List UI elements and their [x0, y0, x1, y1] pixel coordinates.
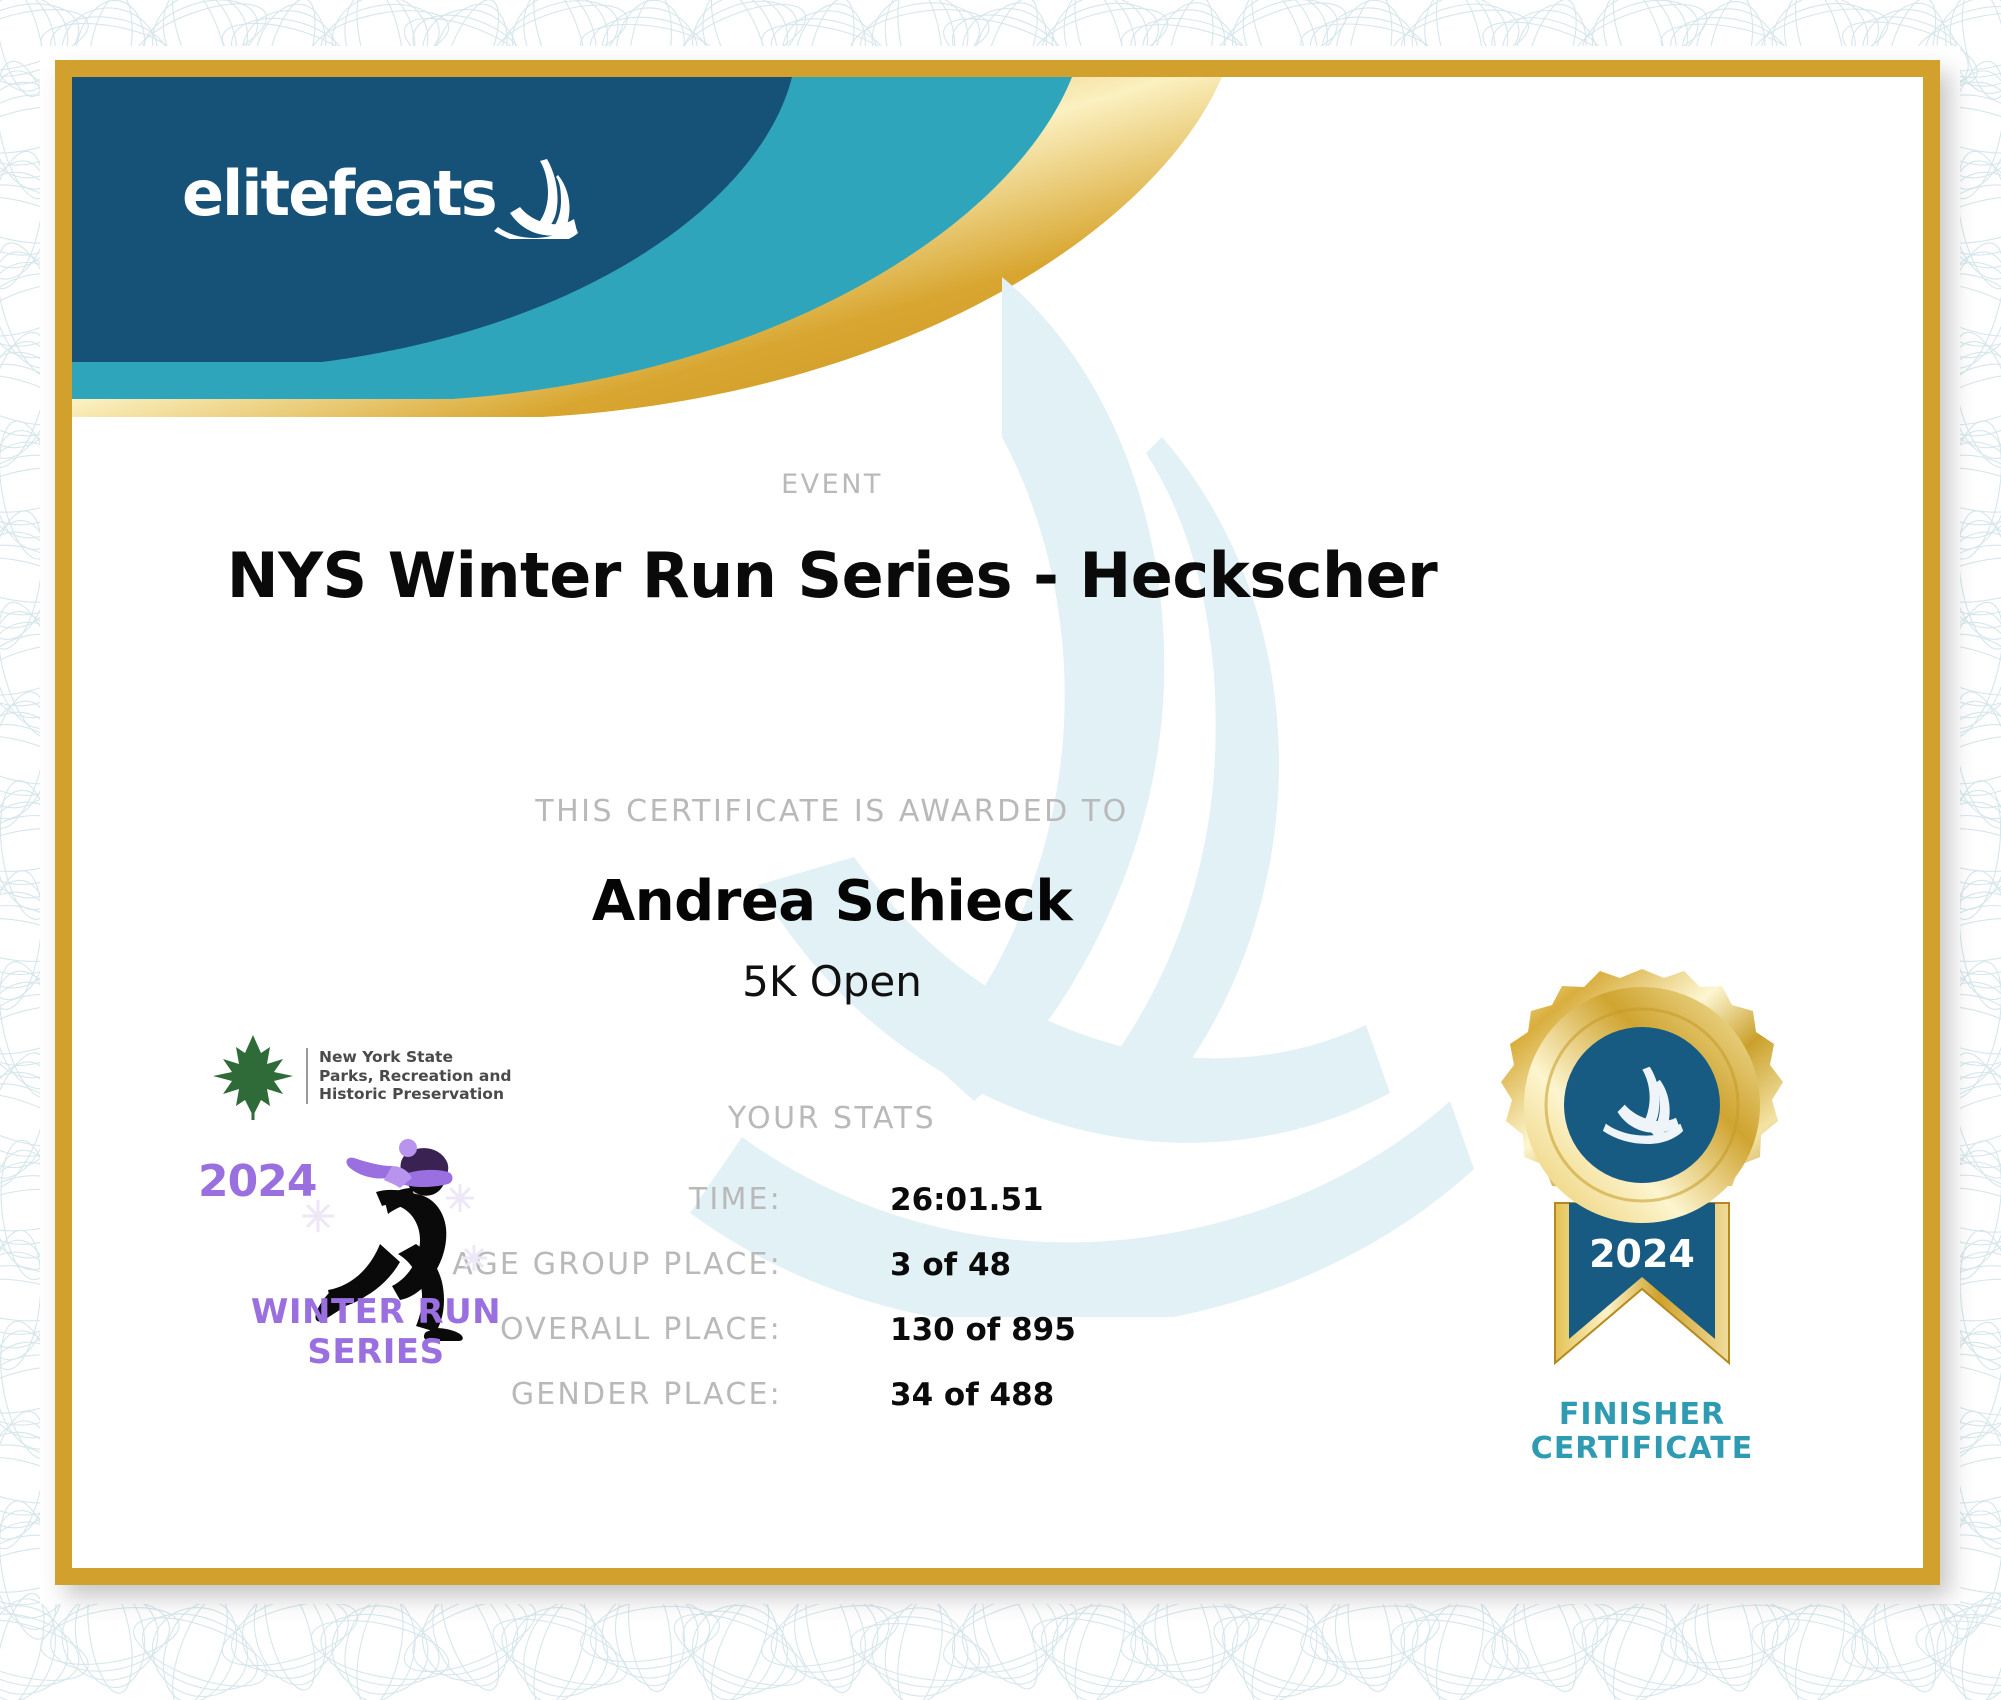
certificate-frame: elitefeats EVENT NYS Winter Run Series -… — [55, 60, 1940, 1585]
medal-caption-line-1: FINISHER — [1462, 1398, 1822, 1432]
stat-row-gender-place: GENDER PLACE: 34 of 488 — [72, 1377, 1592, 1442]
nys-parks-text: New York State Parks, Recreation and His… — [306, 1048, 512, 1105]
certificate-page: elitefeats EVENT NYS Winter Run Series -… — [0, 0, 2001, 1700]
winter-run-series-logo: 2024 — [192, 1134, 560, 1374]
nys-line-1: New York State — [319, 1048, 512, 1067]
medal-year: 2024 — [1589, 1232, 1695, 1276]
winged-foot-icon — [492, 155, 580, 239]
sponsor-logos: New York State Parks, Recreation and His… — [192, 1032, 572, 1374]
brand-wordmark: elitefeats — [182, 163, 496, 225]
maple-leaf-icon — [210, 1032, 296, 1120]
stat-label-time: TIME: — [689, 1182, 782, 1217]
stat-value-age-group-place: 3 of 48 — [890, 1247, 1011, 1283]
stat-label-gender-place: GENDER PLACE: — [511, 1377, 782, 1412]
medal-with-ribbon-icon: 2024 — [1477, 967, 1807, 1387]
stat-value-time: 26:01.51 — [890, 1182, 1044, 1218]
nys-line-2: Parks, Recreation and — [319, 1067, 512, 1086]
awarded-to-label: THIS CERTIFICATE IS AWARDED TO — [72, 794, 1592, 829]
recipient-division: 5K Open — [72, 957, 1592, 1006]
nys-line-3: Historic Preservation — [319, 1085, 512, 1104]
nys-parks-logo: New York State Parks, Recreation and His… — [210, 1032, 572, 1120]
event-title: NYS Winter Run Series - Heckscher — [72, 539, 1592, 612]
event-label: EVENT — [72, 469, 1592, 500]
finisher-medal-badge: 2024 — [1462, 967, 1822, 1465]
recipient-name: Andrea Schieck — [72, 869, 1592, 934]
certificate-body: elitefeats EVENT NYS Winter Run Series -… — [72, 77, 1923, 1568]
wrs-title: WINTER RUN SERIES — [192, 1292, 560, 1372]
stat-value-gender-place: 34 of 488 — [890, 1377, 1054, 1413]
stat-value-overall-place: 130 of 895 — [890, 1312, 1076, 1348]
medal-caption-line-2: CERTIFICATE — [1462, 1432, 1822, 1466]
elitefeats-logo: elitefeats — [182, 155, 580, 225]
medal-caption: FINISHER CERTIFICATE — [1462, 1398, 1822, 1465]
